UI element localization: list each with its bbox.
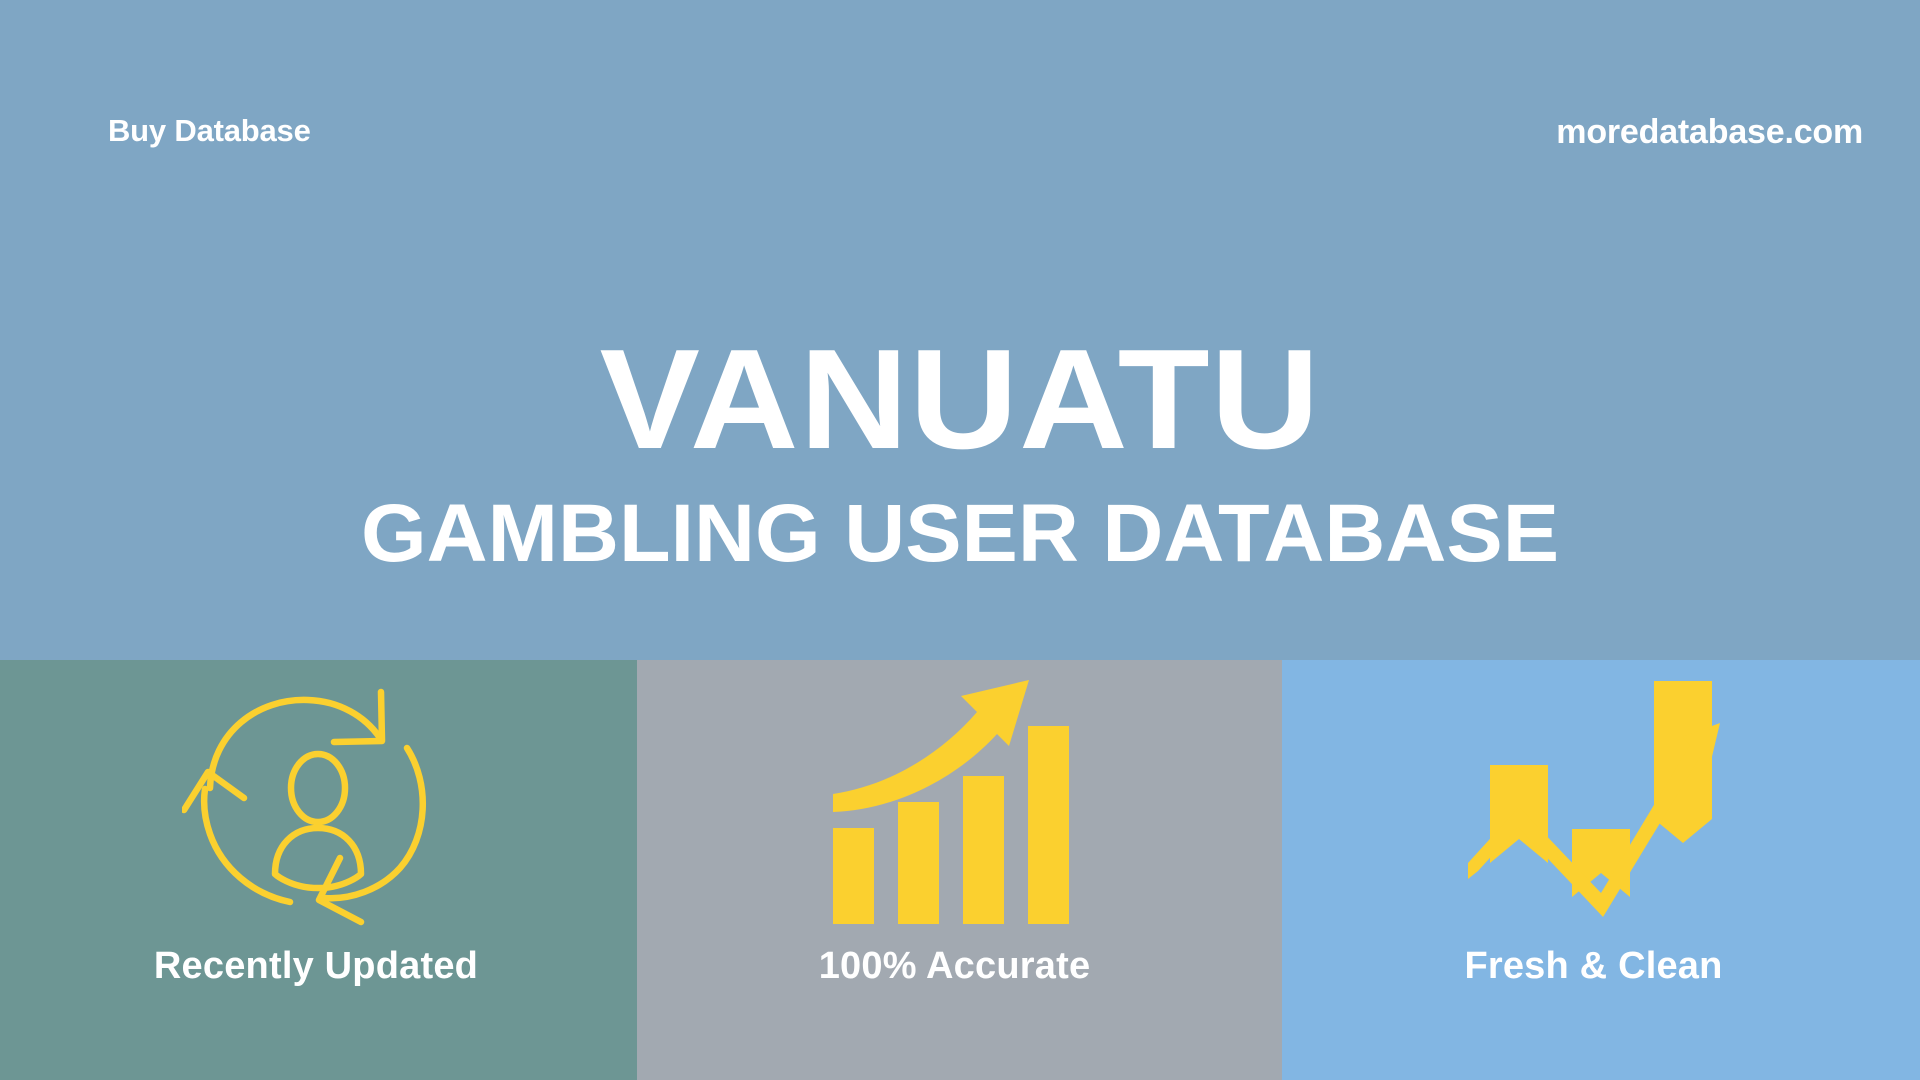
- page-title: VANUATU: [0, 330, 1920, 469]
- feature-label-fresh-clean: Fresh & Clean: [1464, 945, 1722, 988]
- feature-label-recently-updated: Recently Updated: [154, 945, 478, 988]
- website-url-label: moredatabase.com: [1556, 113, 1863, 152]
- feature-panel-recently-updated: Recently Updated: [0, 660, 637, 1080]
- brand-left-label: Buy Database: [108, 113, 311, 149]
- bar-chart-trend-arrow-icon: [1468, 674, 1724, 929]
- feature-label-accurate: 100% Accurate: [819, 945, 1091, 988]
- refresh-user-icon: [182, 674, 450, 929]
- growth-bar-chart-arrow-icon: [831, 674, 1081, 929]
- feature-panel-fresh-clean: Fresh & Clean: [1282, 660, 1920, 1080]
- feature-panel-row: Recently Updated 100% Accurate: [0, 660, 1920, 1080]
- banner-header: Buy Database moredatabase.com VANUATU GA…: [0, 0, 1920, 660]
- page-subtitle: GAMBLING USER DATABASE: [0, 493, 1920, 575]
- hero-text-block: VANUATU GAMBLING USER DATABASE: [0, 330, 1920, 575]
- promo-banner: Buy Database moredatabase.com VANUATU GA…: [0, 0, 1920, 1080]
- feature-panel-accurate: 100% Accurate: [637, 660, 1282, 1080]
